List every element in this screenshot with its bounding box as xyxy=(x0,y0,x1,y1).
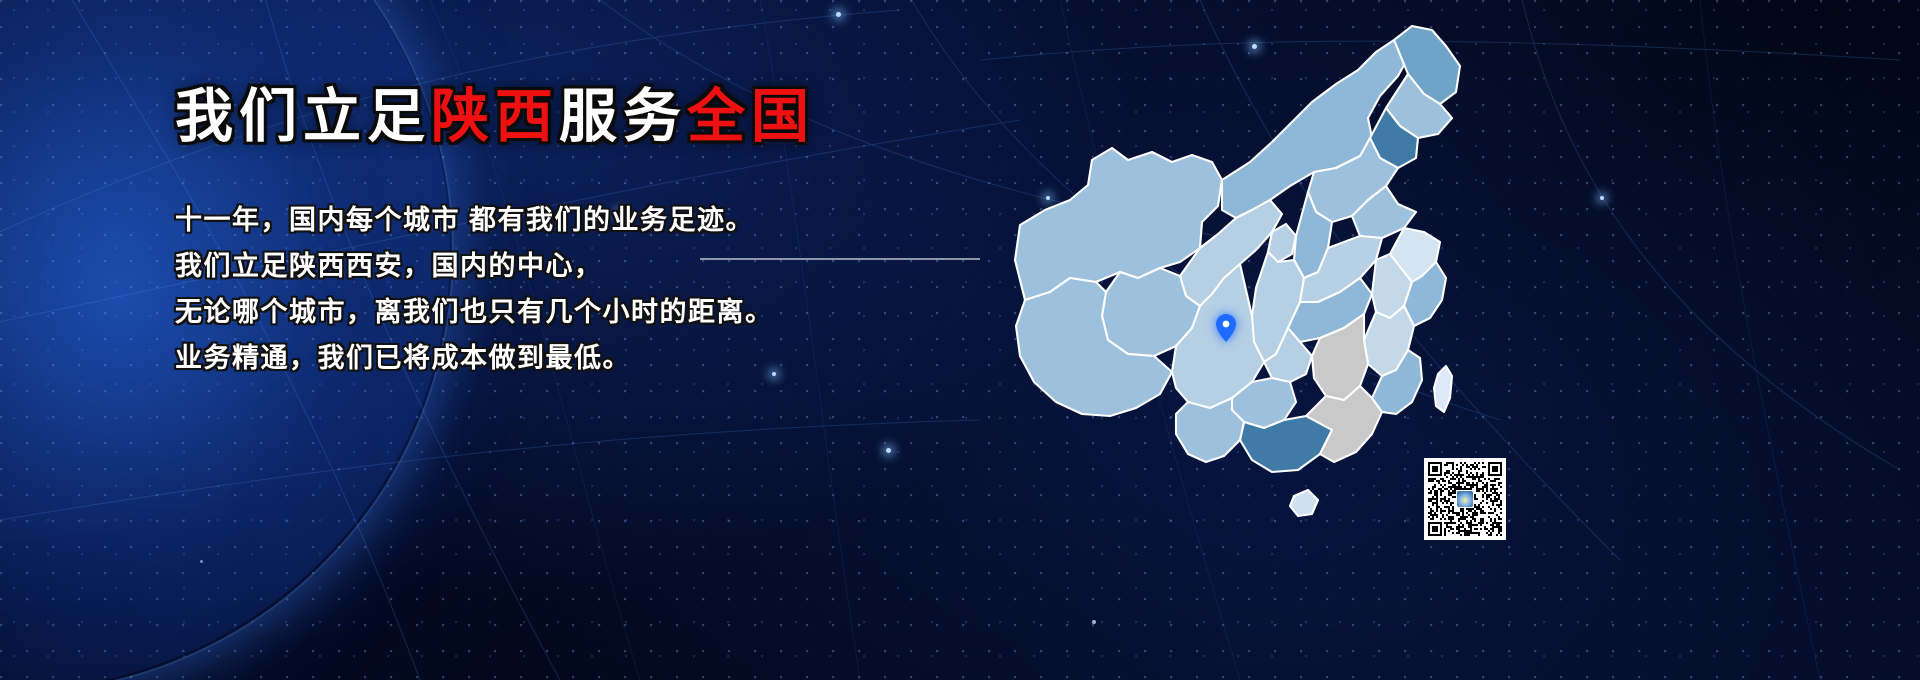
star-dot xyxy=(1600,196,1604,200)
province-hainan xyxy=(1290,490,1318,516)
qr-code-inner xyxy=(1428,462,1502,536)
promo-banner: 我们立足陕西服务全国 十一年，国内每个城市 都有我们的业务足迹。 我们立足陕西西… xyxy=(0,0,1920,680)
headline-part-1: 我们立足 xyxy=(175,84,431,149)
star-dot xyxy=(200,560,203,563)
headline-part-3: 服务 xyxy=(559,84,687,149)
location-pin-icon xyxy=(1216,314,1236,342)
headline-part-4-highlight: 全国 xyxy=(687,84,815,149)
province-taiwan xyxy=(1434,366,1452,412)
map-location-marker[interactable] xyxy=(1216,314,1236,342)
headline-part-2-highlight: 陕西 xyxy=(431,84,559,149)
star-dot xyxy=(1092,620,1096,624)
qr-code[interactable] xyxy=(1424,458,1506,540)
qr-center-logo xyxy=(1456,490,1474,508)
